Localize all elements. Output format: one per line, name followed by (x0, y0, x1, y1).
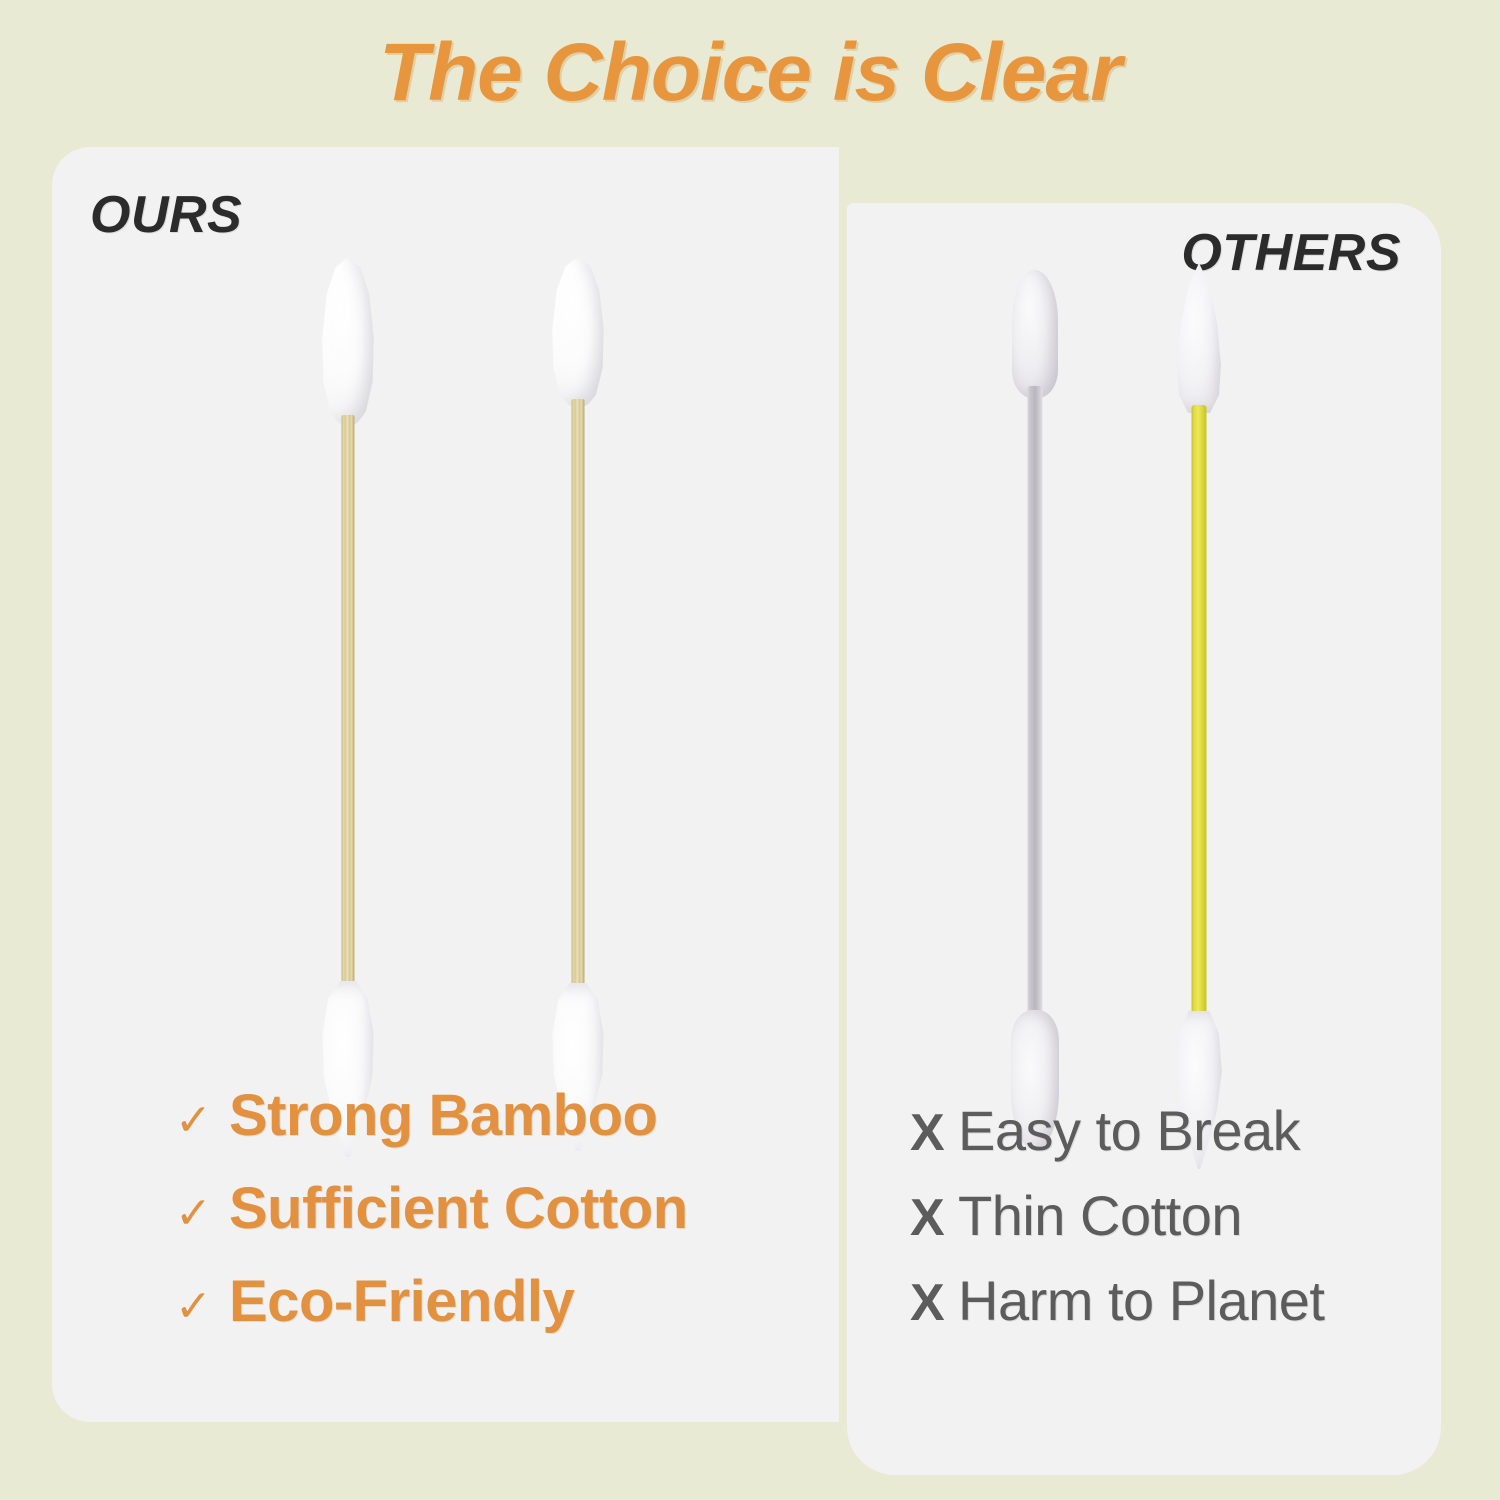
cotton-tip-top (1174, 263, 1224, 413)
panel-ours: OURS ✓ Strong Bamboo ✓ Sufficient Cotton… (52, 147, 838, 1422)
bamboo-stick (342, 415, 355, 999)
check-icon: ✓ (175, 1188, 229, 1239)
feature-label: Easy to Break (958, 1098, 1300, 1163)
list-item: ✓ Sufficient Cotton (175, 1175, 688, 1242)
panel-label-ours: OURS (90, 185, 242, 245)
bamboo-cotton-swab-right (528, 257, 628, 1157)
plastic-stick (1028, 386, 1043, 1022)
cross-icon: X (910, 1273, 958, 1333)
check-icon: ✓ (175, 1095, 229, 1146)
cross-icon: X (910, 1103, 958, 1163)
list-item: X Easy to Break (910, 1098, 1325, 1163)
cotton-tip-top (550, 257, 606, 407)
cross-icon: X (910, 1188, 958, 1248)
cotton-tip-top (320, 257, 376, 425)
bamboo-stick (572, 399, 585, 999)
panel-others: OTHERS X Easy to Break X Thin Cotton X H… (847, 203, 1441, 1475)
plastic-cotton-swab-white (985, 270, 1085, 1170)
feature-label: Strong Bamboo (229, 1082, 657, 1149)
list-item: ✓ Eco-Friendly (175, 1268, 688, 1335)
feature-label: Thin Cotton (958, 1183, 1242, 1248)
feature-label: Harm to Planet (958, 1268, 1325, 1333)
list-item: X Harm to Planet (910, 1268, 1325, 1333)
feature-label: Eco-Friendly (229, 1268, 574, 1335)
page-title: The Choice is Clear (0, 26, 1500, 120)
plastic-stick (1192, 405, 1207, 1021)
list-item: ✓ Strong Bamboo (175, 1082, 688, 1149)
list-item: X Thin Cotton (910, 1183, 1325, 1248)
cotton-tip-top (1012, 270, 1058, 398)
check-icon: ✓ (175, 1281, 229, 1332)
feature-label: Sufficient Cotton (229, 1175, 688, 1242)
bamboo-cotton-swab-left (298, 257, 398, 1157)
feature-list-ours: ✓ Strong Bamboo ✓ Sufficient Cotton ✓ Ec… (175, 1082, 688, 1361)
feature-list-others: X Easy to Break X Thin Cotton X Harm to … (910, 1098, 1325, 1353)
plastic-cotton-swab-yellow (1149, 263, 1249, 1163)
